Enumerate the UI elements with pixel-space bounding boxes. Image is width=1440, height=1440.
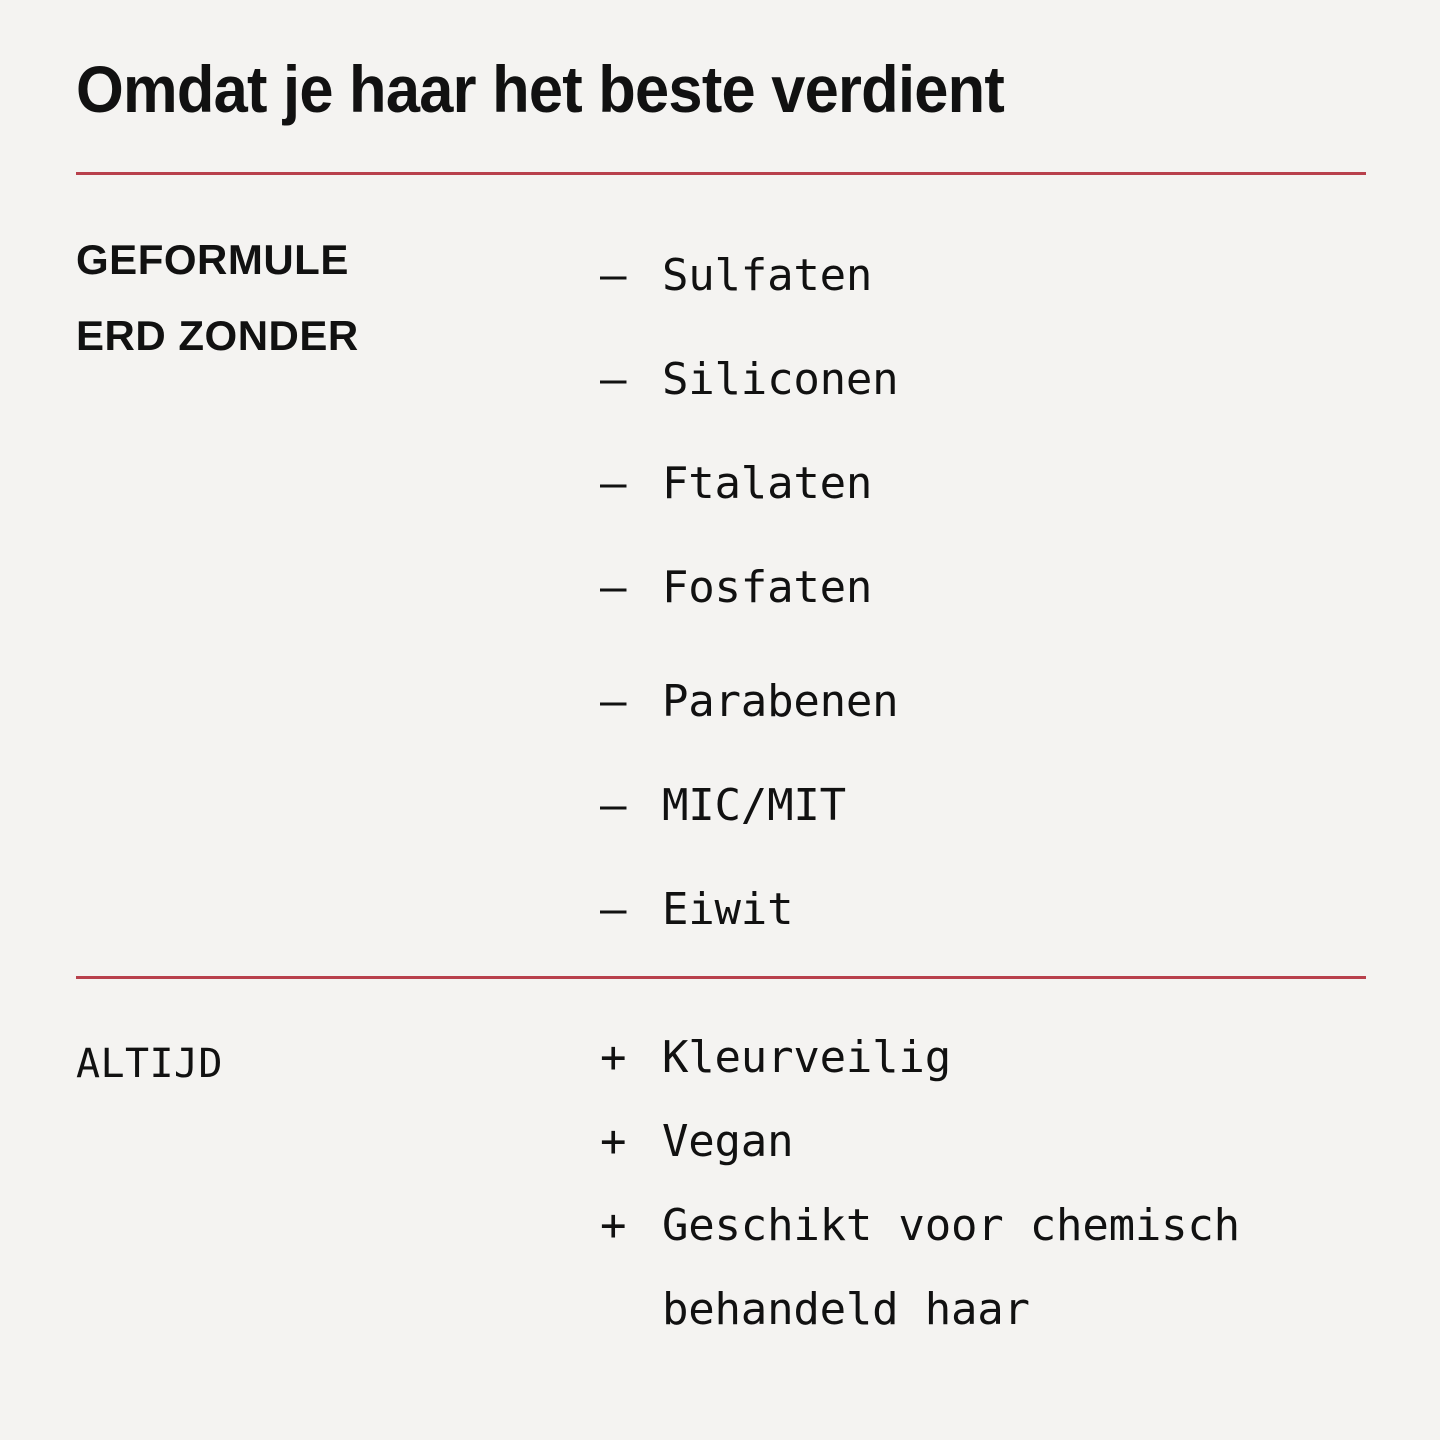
list-item: — Sulfaten <box>600 224 1400 328</box>
dash-marker-icon: — <box>600 328 662 432</box>
dash-marker-icon: — <box>600 432 662 536</box>
plus-marker-icon: + <box>600 1100 662 1184</box>
list-item: — Fosfaten <box>600 536 1400 640</box>
dash-marker-icon: — <box>600 858 662 962</box>
list-item: — Eiwit <box>600 858 1400 962</box>
excluded-ingredients-list: — Sulfaten — Siliconen — Ftalaten — Fosf… <box>600 224 1400 962</box>
dash-marker-icon: — <box>600 650 662 754</box>
list-item-label: Siliconen <box>662 328 1400 432</box>
list-item-label: Eiwit <box>662 858 1400 962</box>
included-claims-list: + Kleurveilig + Vegan + Geschikt voor ch… <box>600 1016 1400 1352</box>
list-item: + Kleurveilig <box>600 1016 1400 1100</box>
list-item: — Parabenen <box>600 650 1400 754</box>
list-item: — Siliconen <box>600 328 1400 432</box>
page-title: Omdat je haar het beste verdient <box>76 56 1285 122</box>
divider-top <box>76 172 1366 175</box>
section-label-formulated-without: GEFORMULE ERD ZONDER <box>76 222 546 374</box>
list-item: — MIC/MIT <box>600 754 1400 858</box>
plus-marker-icon: + <box>600 1184 662 1268</box>
list-item-label: MIC/MIT <box>662 754 1400 858</box>
list-item-label: Parabenen <box>662 650 1400 754</box>
section-label-line-1: GEFORMULE <box>76 222 546 298</box>
dash-marker-icon: — <box>600 754 662 858</box>
section-label-always: ALTIJD <box>76 1036 546 1092</box>
list-item: — Ftalaten <box>600 432 1400 536</box>
list-item-label: Sulfaten <box>662 224 1400 328</box>
list-item-label: Fosfaten <box>662 536 1400 640</box>
section-label-line-1: ALTIJD <box>76 1041 223 1087</box>
plus-marker-icon: + <box>600 1016 662 1100</box>
dash-marker-icon: — <box>600 536 662 640</box>
list-item: + Vegan <box>600 1100 1400 1184</box>
list-item-label: Ftalaten <box>662 432 1400 536</box>
list-item-label: Kleurveilig <box>662 1016 1362 1100</box>
section-label-line-2: ERD ZONDER <box>76 298 546 374</box>
list-item: + Geschikt voor chemisch behandeld haar <box>600 1184 1400 1352</box>
dash-marker-icon: — <box>600 224 662 328</box>
ingredient-claims-panel: Omdat je haar het beste verdient GEFORMU… <box>0 0 1440 1440</box>
list-item-label: Vegan <box>662 1100 1362 1184</box>
list-item-label: Geschikt voor chemisch behandeld haar <box>662 1184 1362 1352</box>
divider-middle <box>76 976 1366 979</box>
